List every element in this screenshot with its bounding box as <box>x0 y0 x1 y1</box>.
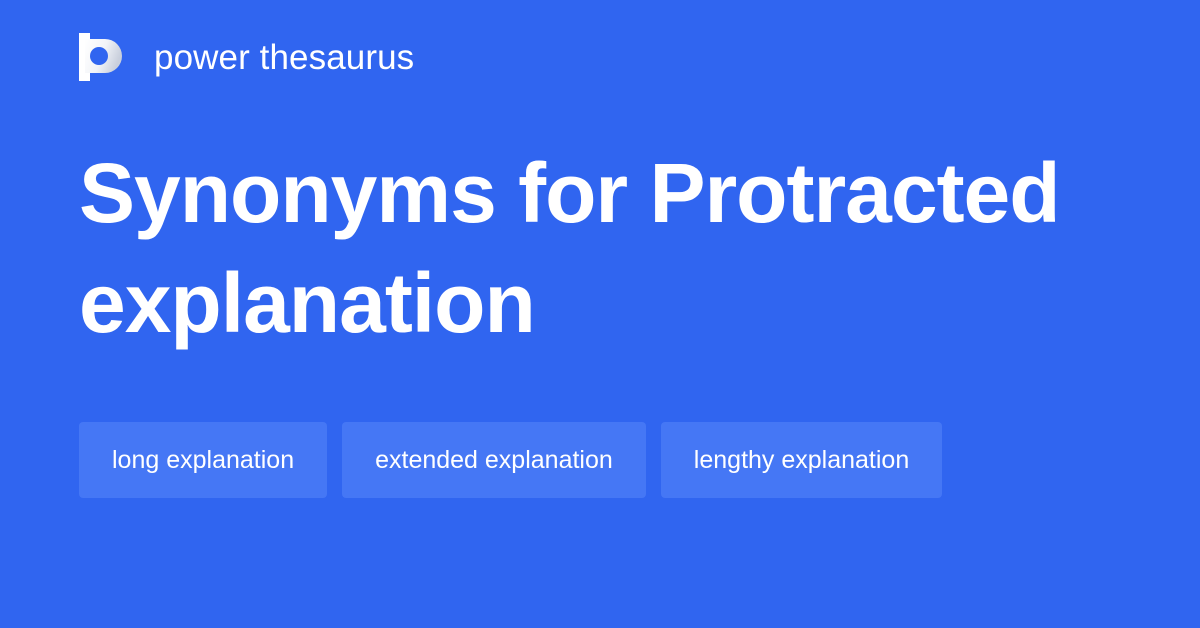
synonym-chip-list: long explanation extended explanation le… <box>79 422 1119 498</box>
synonym-chip[interactable]: lengthy explanation <box>661 422 942 498</box>
page-title: Synonyms for Protracted explanation <box>79 138 1089 358</box>
share-card: power thesaurus Synonyms for Protracted … <box>0 0 1200 628</box>
synonym-chip[interactable]: long explanation <box>79 422 327 498</box>
power-thesaurus-b-logo-icon <box>79 33 125 81</box>
brand-name: power thesaurus <box>154 40 414 75</box>
brand-header[interactable]: power thesaurus <box>79 28 414 86</box>
synonym-chip[interactable]: extended explanation <box>342 422 646 498</box>
